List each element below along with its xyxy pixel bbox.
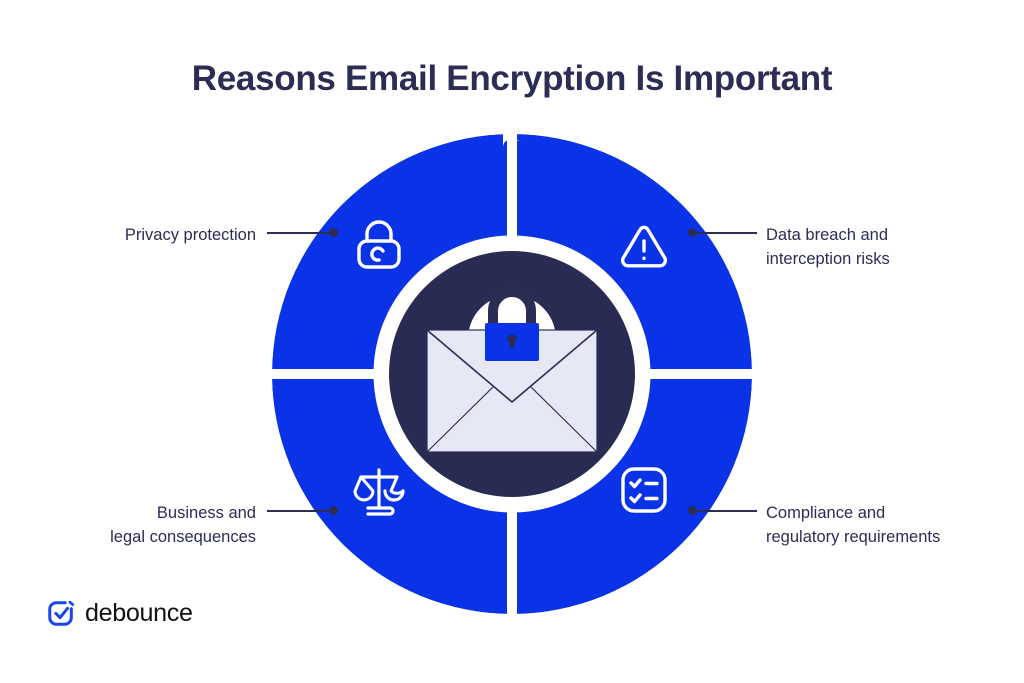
checklist-icon: [616, 462, 672, 518]
debounce-wordmark: debounce: [85, 600, 215, 626]
connector-top-right: [691, 232, 757, 234]
connector-dot-bottom-left: [329, 506, 338, 515]
connector-top-left: [267, 232, 333, 234]
connector-bottom-right: [691, 510, 757, 512]
svg-text:debounce: debounce: [85, 600, 193, 626]
segment-label-privacy-protection: Privacy protection: [125, 224, 256, 248]
debounce-check-icon: [46, 598, 76, 628]
connector-bottom-left: [267, 510, 333, 512]
scales-of-justice-icon: [351, 462, 407, 518]
infographic-diagram: Privacy protection Data breach and inter…: [0, 0, 1024, 683]
segment-label-compliance: Compliance and regulatory requirements: [766, 502, 940, 550]
connector-dot-bottom-right: [688, 506, 697, 515]
brand-logo[interactable]: debounce: [46, 598, 215, 628]
segment-label-business-legal: Business and legal consequences: [110, 502, 256, 550]
connector-dot-top-left: [329, 228, 338, 237]
padlock-icon: [351, 218, 407, 274]
center-emblem: [389, 251, 635, 497]
connector-dot-top-right: [688, 228, 697, 237]
segment-label-data-breach: Data breach and interception risks: [766, 224, 890, 272]
warning-triangle-icon: [616, 218, 672, 274]
